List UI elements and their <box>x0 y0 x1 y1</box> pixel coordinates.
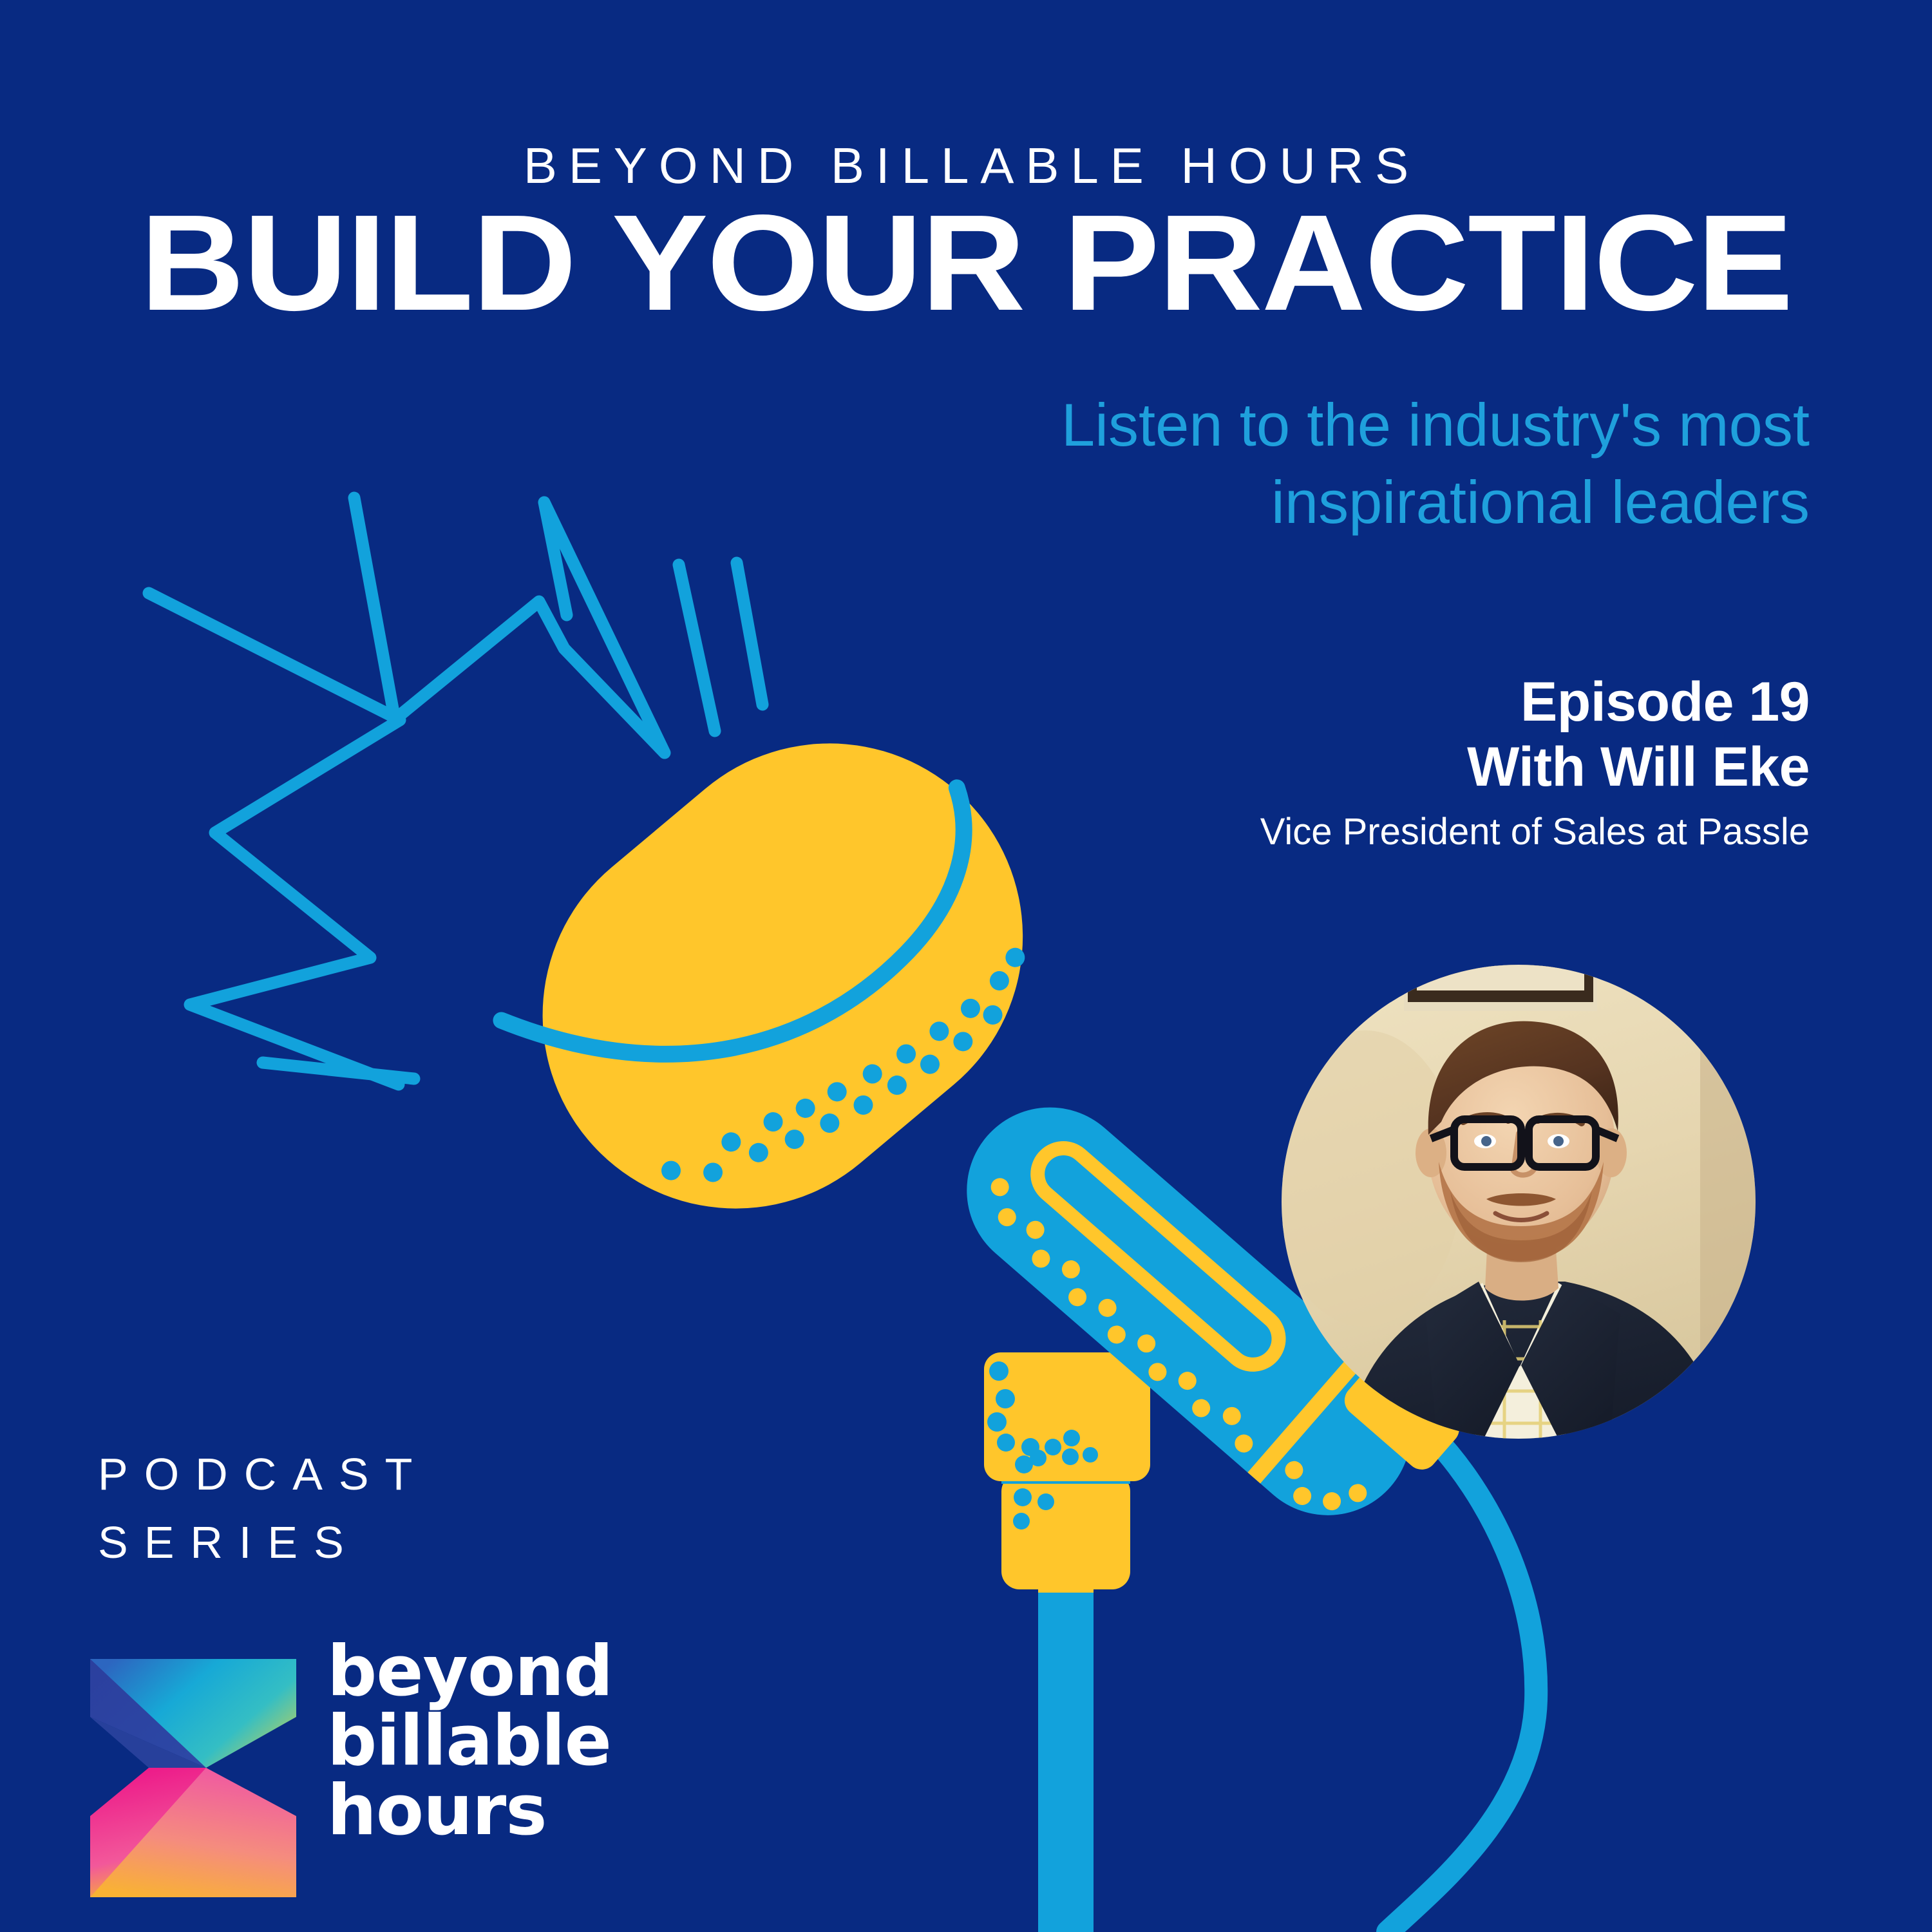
series-label-line-2: SERIES <box>98 1508 428 1577</box>
wordmark-line-3: hours <box>327 1776 612 1846</box>
episode-guest: With Will Eke <box>908 735 1810 800</box>
subtitle-line-2: inspirational leaders <box>844 464 1810 541</box>
episode-guest-role: Vice President of Sales at Passle <box>908 807 1810 857</box>
wordmark-line-2: billable <box>327 1707 612 1776</box>
wordmark-line-1: beyond <box>327 1637 612 1707</box>
page-title: BUILD YOUR PRACTICE <box>0 193 1932 332</box>
series-label: PODCAST SERIES <box>98 1440 428 1577</box>
microphone-base <box>984 1352 1150 1589</box>
series-label-line-1: PODCAST <box>98 1440 428 1508</box>
subtitle-line-1: Listen to the industry's most <box>844 386 1810 464</box>
subtitle: Listen to the industry's most inspiratio… <box>844 386 1810 542</box>
episode-info: Episode 19 With Will Eke Vice President … <box>908 670 1810 857</box>
episode-number: Episode 19 <box>908 670 1810 735</box>
podcast-cover: BEYOND BILLABLE HOURS BUILD YOUR PRACTIC… <box>0 0 1932 1932</box>
brand-wordmark: beyond billable hours <box>327 1637 612 1846</box>
